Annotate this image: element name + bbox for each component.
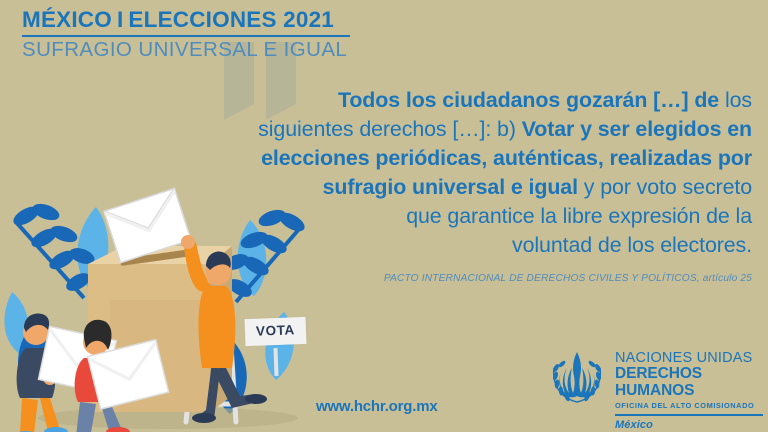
title-country: MÉXICO [22,7,112,32]
quote-line-4-bold: sufragio universal e igual [323,175,578,199]
ohchr-flame-laurel-emblem-icon [548,348,606,406]
page-subtitle: SUFRAGIO UNIVERSAL E IGUAL [22,39,352,62]
vota-sign-board: VOTA [245,317,307,346]
quote-line-5-light: que garantice la libre expresión de la [406,204,752,228]
quote-line-2-light: siguientes derechos […]: b) [258,117,522,141]
quote-line-4-light: y por voto secreto [578,175,752,199]
ohchr-country-label: México [615,419,768,431]
quote-attribution: PACTO INTERNACIONAL DE DERECHOS CIVILES … [162,273,752,284]
vota-sign: VOTA [245,318,306,345]
quote-line-6-light: voluntad de los electores. [512,233,752,257]
vota-sign-label: VOTA [256,322,295,338]
title-divider [22,35,350,37]
title-event: ELECCIONES 2021 [128,7,334,32]
poster-canvas: MÉXICOIELECCIONES 2021 SUFRAGIO UNIVERSA… [0,0,768,432]
quote-line-2-bold: Votar y ser elegidos en [522,117,752,141]
ohchr-logo-text: NACIONES UNIDAS DERECHOS HUMANOS OFICINA… [615,348,768,431]
quote-block: Todos los ciudadanos gozarán […] de los … [162,86,752,284]
quote-line-1-bold: Todos los ciudadanos gozarán […] de [338,88,725,112]
page-title: MÉXICOIELECCIONES 2021 [22,8,352,32]
poster-header: MÉXICOIELECCIONES 2021 SUFRAGIO UNIVERSA… [22,8,352,61]
quote-text: Todos los ciudadanos gozarán […] de los … [162,86,752,260]
website-url[interactable]: www.hchr.org.mx [316,398,437,415]
quote-line-1-light: los [725,88,752,112]
title-separator: I [112,7,128,32]
quote-line-3-bold: elecciones periódicas, auténticas, reali… [261,146,752,170]
ohchr-logo-divider [615,414,763,415]
ohchr-line-oficina: OFICINA DEL ALTO COMISIONADO [615,401,768,411]
ohchr-line-derechos-humanos: DERECHOS HUMANOS [615,366,768,399]
ohchr-line-naciones-unidas: NACIONES UNIDAS [615,351,768,366]
ohchr-logo: NACIONES UNIDAS DERECHOS HUMANOS OFICINA… [548,348,768,431]
